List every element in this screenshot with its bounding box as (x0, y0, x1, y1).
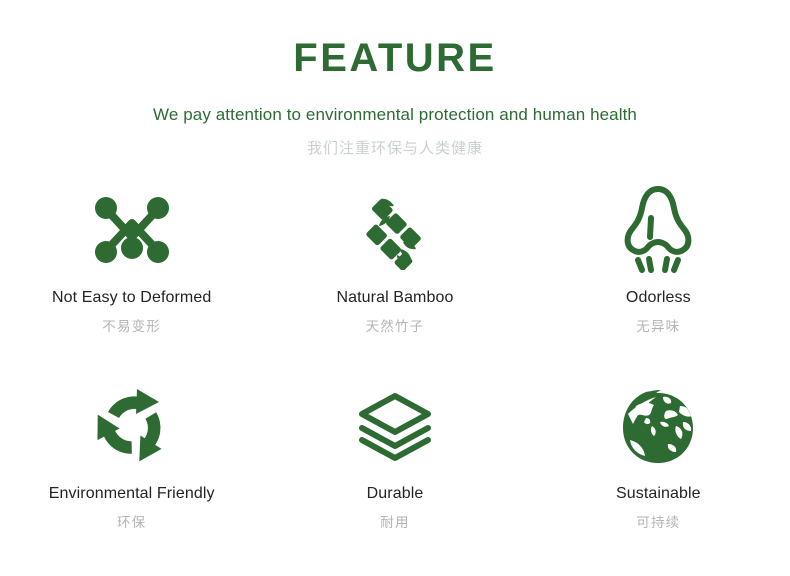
layers-stack-icon (355, 378, 435, 474)
feature-item-not-easy-to-deformed: Not Easy to Deformed 不易变形 (0, 182, 263, 378)
feature-label-en: Durable (367, 484, 424, 503)
feature-item-environmental-friendly: Environmental Friendly 环保 (0, 378, 263, 574)
section-header: FEATURE We pay attention to environmenta… (0, 0, 790, 158)
feature-item-durable: Durable 耐用 (263, 378, 526, 574)
feature-section: FEATURE We pay attention to environmenta… (0, 0, 790, 576)
nose-icon (620, 182, 696, 278)
feature-label-cn: 环保 (117, 515, 146, 531)
bamboo-icon (355, 182, 435, 278)
feature-item-natural-bamboo: Natural Bamboo 天然竹子 (263, 182, 526, 378)
feature-label-en: Environmental Friendly (49, 484, 215, 503)
feature-item-odorless: Odorless 无异味 (527, 182, 790, 378)
feature-label-cn: 不易变形 (102, 319, 161, 335)
feature-label-cn: 无异味 (636, 319, 680, 335)
feature-label-cn: 天然竹子 (366, 319, 425, 335)
globe-leaf-icon (616, 378, 700, 474)
feature-label-cn: 可持续 (636, 515, 680, 531)
subtitle-english: We pay attention to environmental protec… (0, 105, 790, 125)
feature-item-sustainable: Sustainable 可持续 (527, 378, 790, 574)
feature-label-en: Natural Bamboo (336, 288, 453, 307)
recycle-icon (90, 378, 174, 474)
page-title: FEATURE (0, 36, 790, 80)
feature-label-en: Odorless (626, 288, 691, 307)
molecule-network-icon (92, 182, 172, 278)
feature-grid: Not Easy to Deformed 不易变形 (0, 182, 790, 574)
feature-label-en: Not Easy to Deformed (52, 288, 211, 307)
subtitle-chinese: 我们注重环保与人类健康 (0, 137, 790, 158)
feature-label-cn: 耐用 (380, 515, 409, 531)
feature-label-en: Sustainable (616, 484, 701, 503)
